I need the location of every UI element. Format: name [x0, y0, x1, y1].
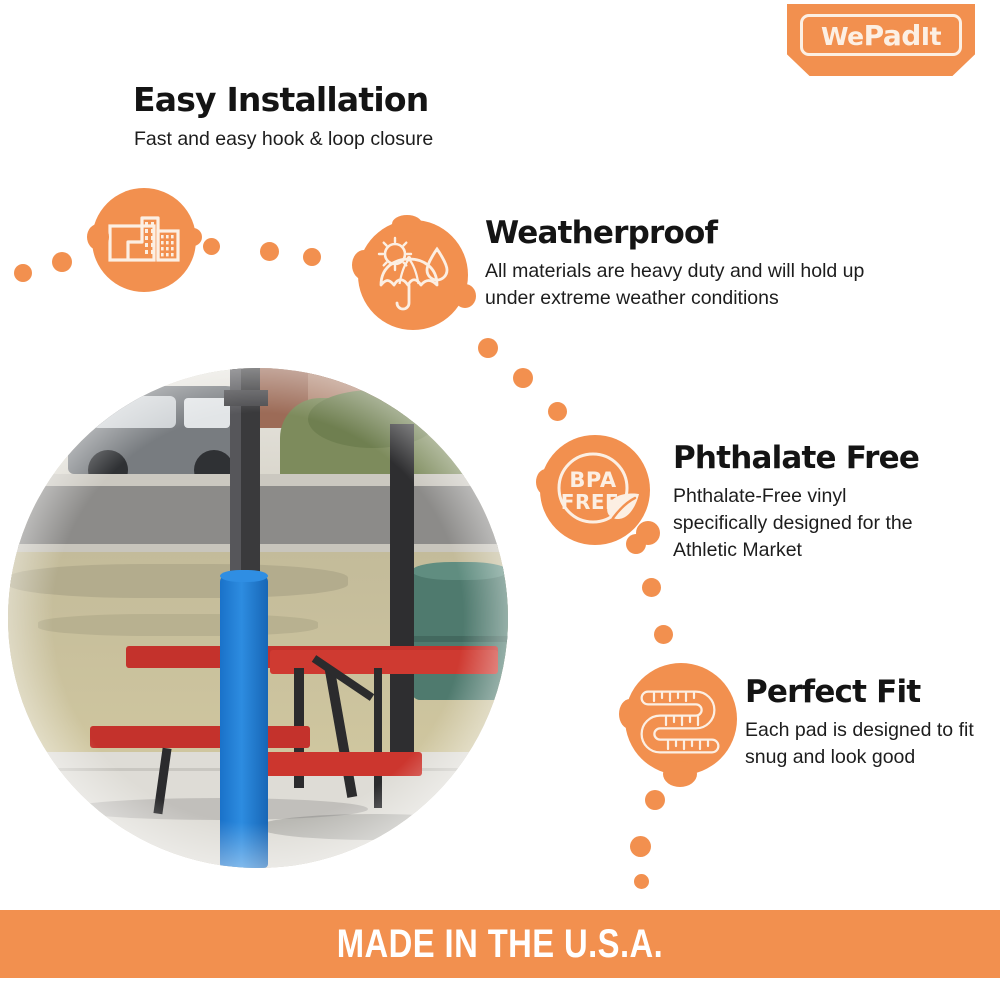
trail-dot: [654, 625, 673, 644]
svg-text:BPA: BPA: [569, 468, 616, 492]
product-feature-infographic: WePadIt Easy Installation Fast and easy …: [0, 0, 1000, 987]
feature-title-perfect-fit: Perfect Fit: [745, 674, 920, 710]
hook-and-loop-strip-icon: [92, 188, 196, 292]
feature-title-weatherproof: Weatherproof: [485, 215, 717, 251]
logo-word-pad: Pad: [864, 19, 921, 52]
trail-dot: [478, 338, 498, 358]
product-photo: [8, 368, 508, 868]
feature-description-easy-installation: Fast and easy hook & loop closure: [134, 126, 554, 153]
trail-dot: [303, 248, 321, 266]
trail-dot: [630, 836, 651, 857]
feature-description-weatherproof: All materials are heavy duty and will ho…: [485, 258, 915, 312]
logo-word-we: We: [821, 22, 864, 51]
trail-dot: [513, 368, 533, 388]
trail-dot: [203, 238, 220, 255]
trail-dot: [634, 874, 649, 889]
feature-description-phthalate-free: Phthalate-Free vinyl specifically design…: [673, 483, 938, 564]
feature-description-perfect-fit: Each pad is designed to fit snug and loo…: [745, 717, 975, 771]
bpa-free-leaf-icon: BPA FREE BPA FREE: [540, 435, 650, 545]
sun-umbrella-raindrop-icon: [358, 220, 468, 330]
trail-dot: [52, 252, 72, 272]
photo-edge-fade: [8, 368, 508, 868]
logo-wordmark: WePadIt: [821, 19, 941, 52]
logo-word-it: It: [921, 22, 941, 51]
feature-title-easy-installation: Easy Installation: [133, 80, 428, 119]
trail-dot: [548, 402, 567, 421]
brand-logo: WePadIt: [787, 4, 975, 76]
trail-dot: [642, 578, 661, 597]
measuring-tape-icon: [625, 663, 737, 775]
trail-dot: [260, 242, 279, 261]
made-in-usa-text: MADE IN THE U.S.A.: [337, 922, 663, 967]
feature-title-phthalate-free: Phthalate Free: [673, 440, 919, 476]
made-in-usa-banner: MADE IN THE U.S.A.: [0, 910, 1000, 978]
trail-dot: [645, 790, 665, 810]
logo-outline-plate: WePadIt: [800, 14, 962, 56]
trail-dot: [14, 264, 32, 282]
